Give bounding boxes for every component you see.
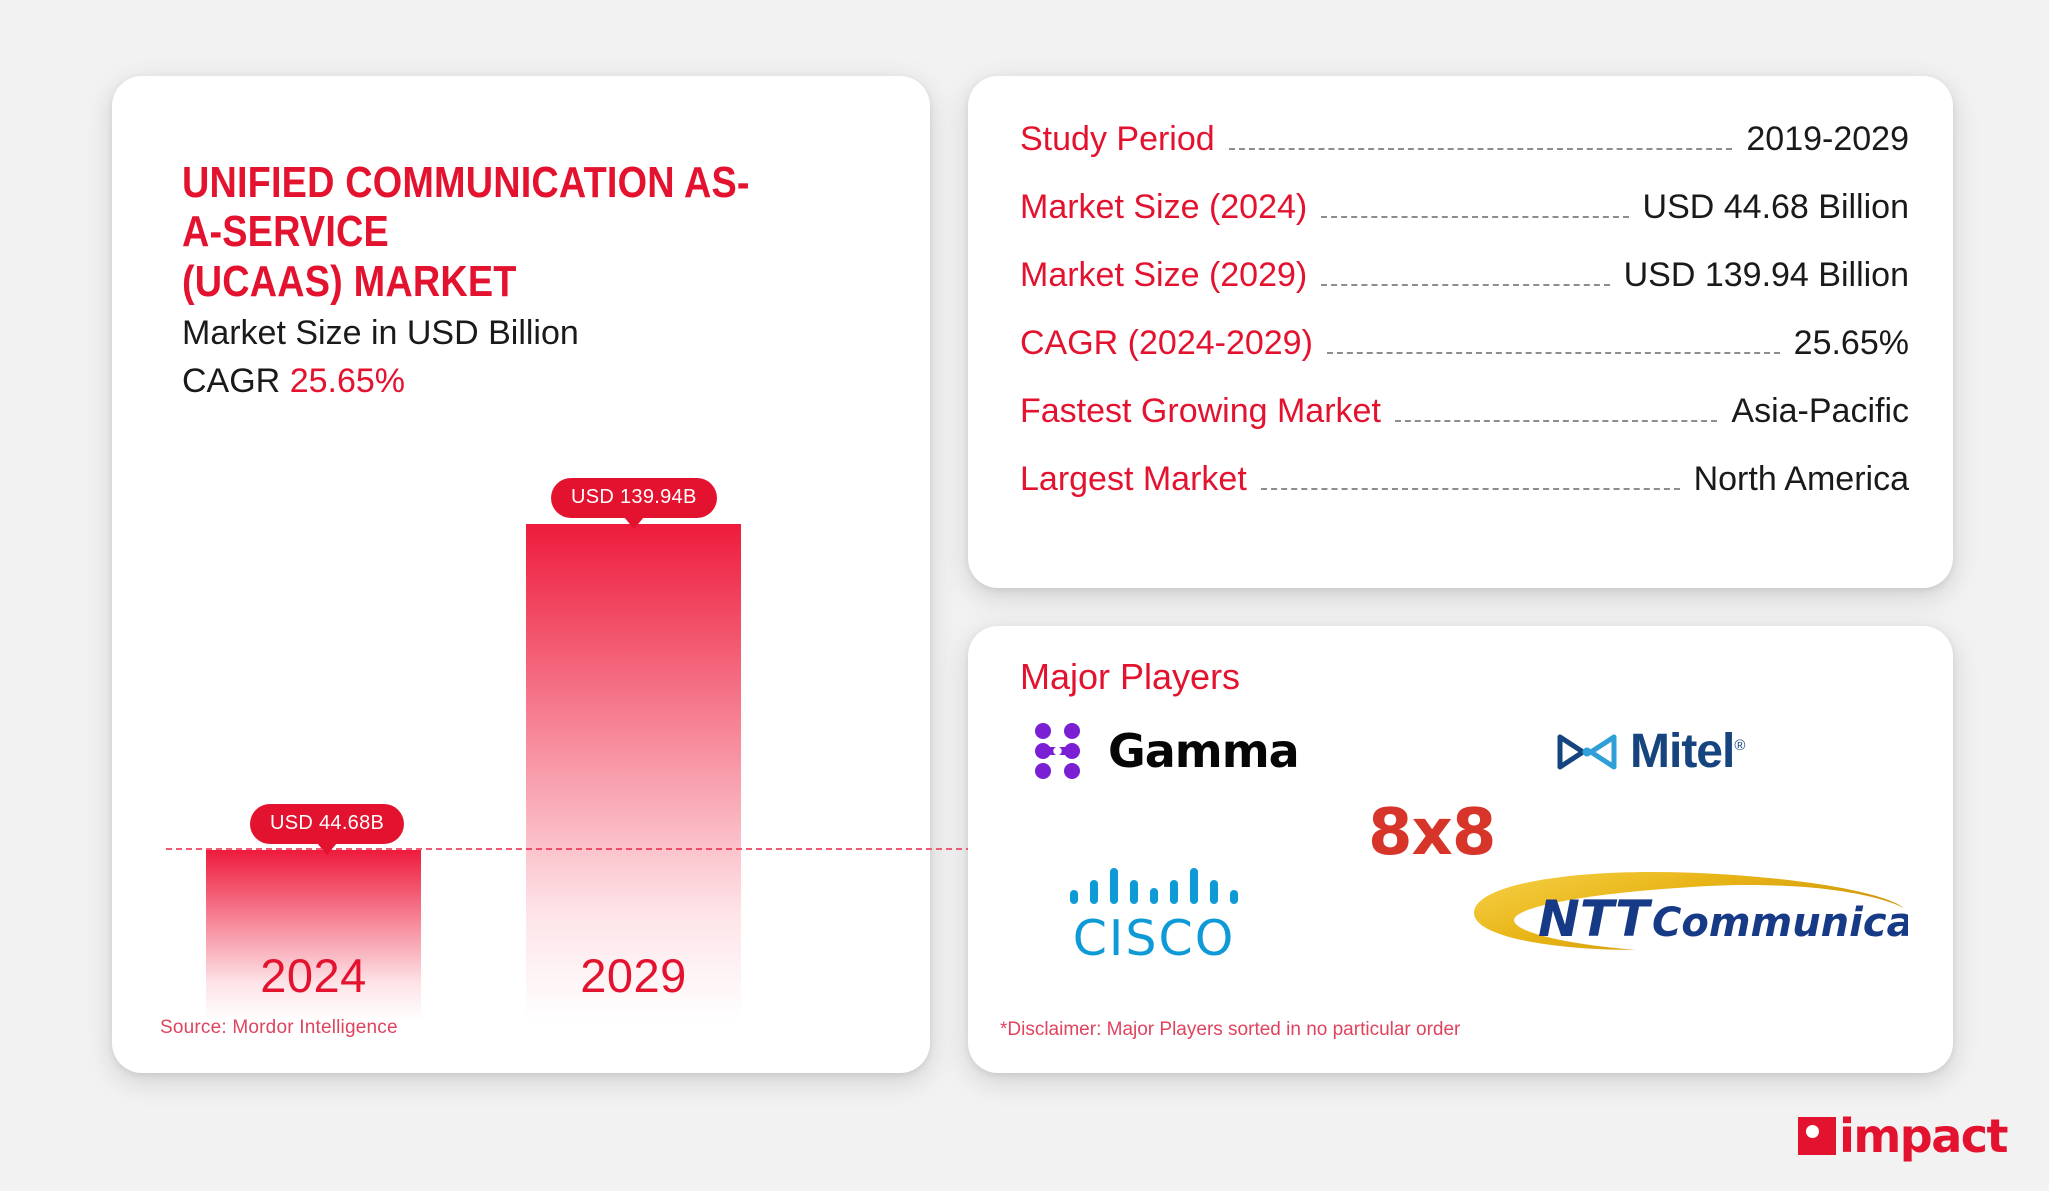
metric-value: North America xyxy=(1694,460,1909,499)
value-tag-2029: USD 139.94B xyxy=(551,478,717,518)
metric-value: USD 139.94 Billion xyxy=(1624,256,1909,295)
page-title: UNIFIED COMMUNICATION AS-A-SERVICE (UCAA… xyxy=(182,158,784,306)
bar-label-2024: 2024 xyxy=(206,948,421,1003)
metric-value: 25.65% xyxy=(1794,324,1909,363)
metric-label: Fastest Growing Market xyxy=(1020,392,1381,431)
registered-mark-icon: ® xyxy=(1734,737,1744,754)
dotted-connector xyxy=(1261,488,1680,490)
gamma-dots-icon xyxy=(1032,720,1094,782)
metric-value: Asia-Pacific xyxy=(1731,392,1909,431)
cagr-label: CAGR xyxy=(182,362,290,400)
metric-row-cagr: CAGR (2024-2029) 25.65% xyxy=(1020,324,1909,392)
ntt-wordmark: NTT xyxy=(1538,890,1653,948)
ntt-communications-wordmark: Communications xyxy=(1652,900,1908,946)
dotted-connector xyxy=(1327,352,1780,354)
metric-label: CAGR (2024-2029) xyxy=(1020,324,1313,363)
market-chart-card: UNIFIED COMMUNICATION AS-A-SERVICE (UCAA… xyxy=(112,76,930,1073)
eight-by-eight-wordmark: 8x8 xyxy=(1368,796,1495,870)
mitel-bowtie-icon xyxy=(1556,731,1618,773)
metric-row-fastest-growing-market: Fastest Growing Market Asia-Pacific xyxy=(1020,392,1909,460)
metric-row-market-size-2024: Market Size (2024) USD 44.68 Billion xyxy=(1020,188,1909,256)
source-note: Source: Mordor Intelligence xyxy=(160,1017,398,1039)
player-logo-8x8: 8x8 xyxy=(1368,796,1495,870)
cisco-wordmark: CISCO xyxy=(1073,910,1236,967)
players-disclaimer: *Disclaimer: Major Players sorted in no … xyxy=(1000,1019,1460,1041)
bar-2029: 2029 xyxy=(526,524,741,1021)
impact-brand-logo: impact xyxy=(1798,1109,2007,1163)
bar-2024: 2024 xyxy=(206,850,421,1021)
mitel-name: Mitel xyxy=(1630,725,1734,778)
page-title-line2: (UCAAS) MARKET xyxy=(182,257,784,306)
key-metrics-list: Study Period 2019-2029 Market Size (2024… xyxy=(1020,120,1909,528)
bar-label-2029: 2029 xyxy=(526,948,741,1003)
metric-row-study-period: Study Period 2019-2029 xyxy=(1020,120,1909,188)
dotted-connector xyxy=(1395,420,1718,422)
metric-row-market-size-2029: Market Size (2029) USD 139.94 Billion xyxy=(1020,256,1909,324)
gamma-wordmark: Gamma xyxy=(1108,724,1299,778)
impact-square-icon xyxy=(1798,1117,1836,1155)
chart-subtitle-cagr: CAGR 25.65% xyxy=(182,357,579,405)
chart-subtitle-units: Market Size in USD Billion xyxy=(182,309,579,357)
impact-wordmark: impact xyxy=(1839,1109,2007,1163)
player-logo-gamma: Gamma xyxy=(1032,720,1299,782)
cagr-value: 25.65% xyxy=(290,362,405,400)
player-logo-cisco: CISCO xyxy=(1068,864,1240,967)
metric-label: Largest Market xyxy=(1020,460,1247,499)
page-title-line1: UNIFIED COMMUNICATION AS-A-SERVICE xyxy=(182,158,784,257)
metric-row-largest-market: Largest Market North America xyxy=(1020,460,1909,528)
metric-label: Market Size (2029) xyxy=(1020,256,1307,295)
value-tag-2024: USD 44.68B xyxy=(250,804,404,844)
bar-chart: 2024 2029 USD 44.68B USD 139.94B xyxy=(156,461,886,1021)
metric-value: 2019-2029 xyxy=(1746,120,1909,159)
infographic-page: UNIFIED COMMUNICATION AS-A-SERVICE (UCAA… xyxy=(0,0,2049,1191)
mitel-wordmark: Mitel® xyxy=(1630,724,1744,779)
cisco-bars-icon xyxy=(1068,864,1240,906)
key-metrics-card: Study Period 2019-2029 Market Size (2024… xyxy=(968,76,1953,588)
dotted-connector xyxy=(1321,216,1628,218)
chart-subtitle: Market Size in USD Billion CAGR 25.65% xyxy=(182,309,579,406)
metric-label: Market Size (2024) xyxy=(1020,188,1307,227)
major-players-title: Major Players xyxy=(1020,656,1240,698)
player-logo-ntt-communications: NTT Communications xyxy=(1468,868,1908,958)
player-logo-mitel: Mitel® xyxy=(1556,724,1744,779)
metric-value: USD 44.68 Billion xyxy=(1643,188,1909,227)
metric-label: Study Period xyxy=(1020,120,1215,159)
dotted-connector xyxy=(1229,148,1733,150)
dotted-connector xyxy=(1321,284,1609,286)
major-players-card: Major Players Gamma xyxy=(968,626,1953,1073)
